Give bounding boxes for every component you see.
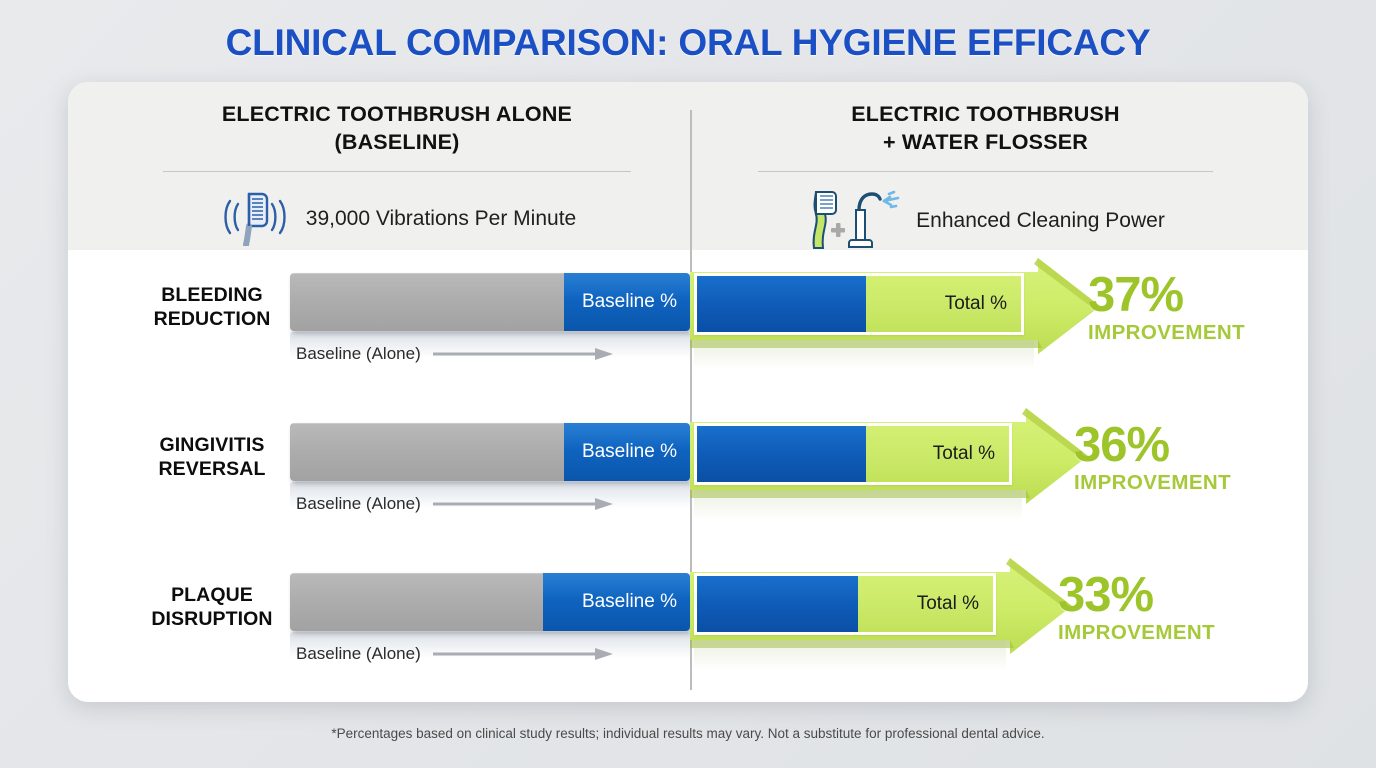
electric-toothbrush-vibrating-icon	[218, 188, 292, 251]
baseline-note-label: Baseline (Alone)	[296, 494, 421, 514]
total-badge-label: Total %	[933, 443, 995, 465]
total-bar: Total %	[694, 273, 1024, 335]
baseline-bar-blue-segment: Baseline %	[543, 573, 690, 631]
total-bar-lime-segment: Total %	[866, 276, 1021, 332]
toothbrush-flosser-combo-icon	[806, 188, 902, 255]
metric-row: GINGIVITIS REVERSAL Baseline % Baseline …	[68, 406, 1308, 556]
improvement-figure: 36% IMPROVEMENT	[1074, 422, 1231, 495]
baseline-badge-label: Baseline %	[582, 291, 677, 313]
footnote: *Percentages based on clinical study res…	[0, 726, 1376, 741]
baseline-arrow-icon	[433, 498, 613, 510]
improvement-figure: 33% IMPROVEMENT	[1058, 572, 1215, 645]
metric-row: PLAQUE DISRUPTION Baseline % Baseline (A…	[68, 556, 1308, 702]
improvement-word: IMPROVEMENT	[1074, 471, 1231, 495]
total-arrow: Total %	[690, 258, 1156, 375]
row-label: PLAQUE DISRUPTION	[112, 584, 312, 632]
baseline-arrow-icon	[433, 648, 613, 660]
total-badge-label: Total %	[917, 593, 979, 615]
total-bar-blue-segment	[697, 576, 858, 632]
left-heading-line2: (BASELINE)	[334, 130, 459, 154]
total-bar: Total %	[694, 423, 1012, 485]
total-bar-reflection	[694, 640, 1006, 670]
total-bar-reflection	[694, 490, 1022, 520]
baseline-bar: Baseline %	[290, 273, 690, 331]
left-heading-line1: ELECTRIC TOOTHBRUSH ALONE	[222, 102, 572, 126]
total-bar-blue-segment	[697, 426, 866, 482]
right-heading-line1: ELECTRIC TOOTHBRUSH	[851, 102, 1120, 126]
row-label-line1: GINGIVITIS	[159, 434, 264, 456]
baseline-note: Baseline (Alone)	[296, 644, 613, 664]
baseline-bar-blue-segment: Baseline %	[564, 423, 690, 481]
baseline-note: Baseline (Alone)	[296, 344, 613, 364]
improvement-word: IMPROVEMENT	[1058, 621, 1215, 645]
improvement-word: IMPROVEMENT	[1088, 321, 1245, 345]
total-bar-lime-segment: Total %	[866, 426, 1009, 482]
baseline-bar-gray-segment	[290, 573, 543, 631]
page-title: CLINICAL COMPARISON: ORAL HYGIENE EFFICA…	[0, 22, 1376, 64]
improvement-figure: 37% IMPROVEMENT	[1088, 272, 1245, 345]
plus-icon	[831, 223, 845, 237]
water-spray-icon	[884, 192, 898, 207]
row-label: BLEEDING REDUCTION	[112, 284, 312, 332]
water-flosser-icon	[849, 194, 880, 247]
total-bar-reflection	[694, 340, 1034, 370]
row-label-line1: PLAQUE	[171, 584, 253, 606]
baseline-note: Baseline (Alone)	[296, 494, 613, 514]
total-bar-blue-segment	[697, 276, 866, 332]
row-label-line2: DISRUPTION	[151, 608, 272, 630]
baseline-bar: Baseline %	[290, 573, 690, 631]
column-header-right: ELECTRIC TOOTHBRUSH + WATER FLOSSER	[698, 100, 1273, 255]
row-label: GINGIVITIS REVERSAL	[112, 434, 312, 482]
left-header-rule	[163, 171, 631, 172]
right-sub-label: Enhanced Cleaning Power	[916, 209, 1165, 233]
toothbrush-icon	[814, 192, 836, 248]
column-header-left: ELECTRIC TOOTHBRUSH ALONE (BASELINE)	[108, 100, 686, 251]
row-label-line2: REDUCTION	[154, 308, 271, 330]
improvement-number: 37%	[1088, 272, 1245, 319]
total-bar: Total %	[694, 573, 996, 635]
baseline-note-label: Baseline (Alone)	[296, 344, 421, 364]
baseline-badge-label: Baseline %	[582, 441, 677, 463]
row-label-line1: BLEEDING	[161, 284, 263, 306]
improvement-number: 36%	[1074, 422, 1231, 469]
left-sub-label: 39,000 Vibrations Per Minute	[306, 207, 576, 231]
right-heading-line2: + WATER FLOSSER	[883, 130, 1088, 154]
baseline-badge-label: Baseline %	[582, 591, 677, 613]
improvement-number: 33%	[1058, 572, 1215, 619]
total-bar-lime-segment: Total %	[858, 576, 993, 632]
metric-rows: BLEEDING REDUCTION Baseline % Baseline (…	[68, 250, 1308, 702]
baseline-bar: Baseline %	[290, 423, 690, 481]
row-label-line2: REVERSAL	[159, 458, 266, 480]
baseline-bar-gray-segment	[290, 423, 564, 481]
baseline-arrow-icon	[433, 348, 613, 360]
metric-row: BLEEDING REDUCTION Baseline % Baseline (…	[68, 256, 1308, 406]
total-badge-label: Total %	[945, 293, 1007, 315]
baseline-bar-blue-segment: Baseline %	[564, 273, 690, 331]
baseline-bar-gray-segment	[290, 273, 564, 331]
comparison-card: ELECTRIC TOOTHBRUSH ALONE (BASELINE)	[68, 82, 1308, 702]
baseline-note-label: Baseline (Alone)	[296, 644, 421, 664]
right-header-rule	[758, 171, 1213, 172]
